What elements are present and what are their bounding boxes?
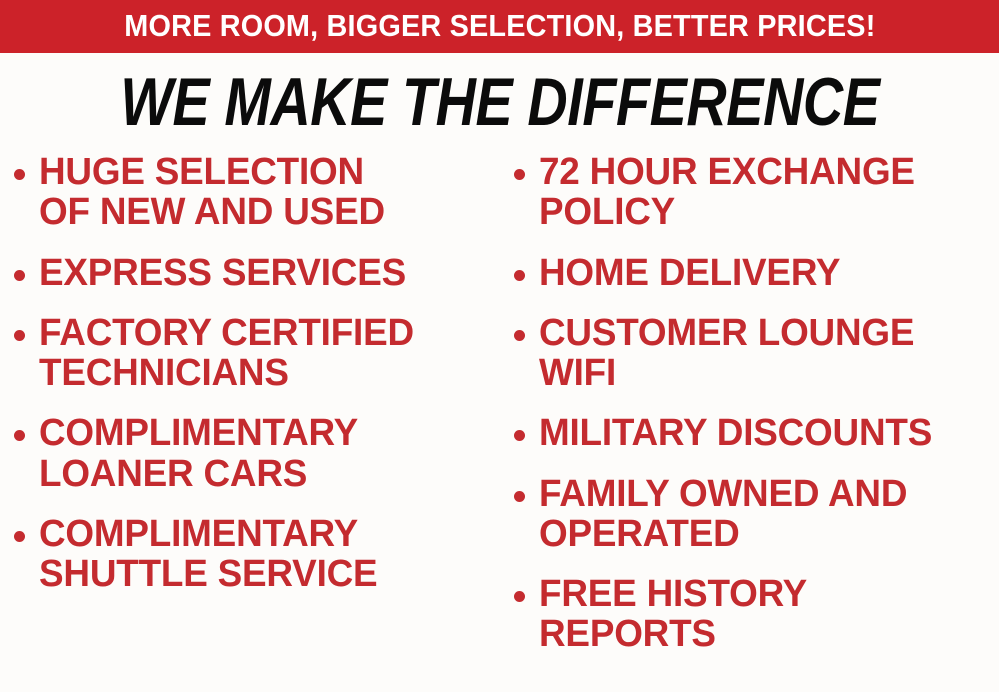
- bullet-dot-icon: [514, 270, 525, 281]
- list-item: FREE HISTORY REPORTS: [514, 574, 999, 655]
- bullet-dot-icon: [514, 591, 525, 602]
- list-item: EXPRESS SERVICES: [14, 253, 499, 293]
- bullet-dot-icon: [14, 169, 25, 180]
- bullet-dot-icon: [14, 270, 25, 281]
- headline: WE MAKE THE DIFFERENCE: [0, 64, 999, 140]
- list-item-label: 72 HOUR EXCHANGE POLICY: [539, 152, 985, 233]
- bullet-dot-icon: [514, 330, 525, 341]
- list-item: CUSTOMER LOUNGE WIFI: [514, 313, 999, 394]
- bullet-dot-icon: [14, 330, 25, 341]
- list-item: HOME DELIVERY: [514, 253, 999, 293]
- bullet-dot-icon: [14, 430, 25, 441]
- list-item-label: HUGE SELECTION OF NEW AND USED: [39, 152, 485, 233]
- bullet-dot-icon: [514, 169, 525, 180]
- list-item-label: MILITARY DISCOUNTS: [539, 413, 985, 453]
- list-item-label: COMPLIMENTARY LOANER CARS: [39, 413, 485, 494]
- list-item: COMPLIMENTARY SHUTTLE SERVICE: [14, 514, 499, 595]
- list-item: FACTORY CERTIFIED TECHNICIANS: [14, 313, 499, 394]
- list-item-label: CUSTOMER LOUNGE WIFI: [539, 313, 985, 394]
- bullet-dot-icon: [514, 430, 525, 441]
- list-item: COMPLIMENTARY LOANER CARS: [14, 413, 499, 494]
- benefits-column-left: HUGE SELECTION OF NEW AND USED EXPRESS S…: [14, 152, 499, 614]
- list-item: MILITARY DISCOUNTS: [514, 413, 999, 453]
- list-item-label: COMPLIMENTARY SHUTTLE SERVICE: [39, 514, 485, 595]
- promo-banner-text: MORE ROOM, BIGGER SELECTION, BETTER PRIC…: [124, 10, 875, 43]
- list-item-label: FREE HISTORY REPORTS: [539, 574, 985, 655]
- benefits-column-right: 72 HOUR EXCHANGE POLICY HOME DELIVERY CU…: [514, 152, 999, 675]
- list-item: HUGE SELECTION OF NEW AND USED: [14, 152, 499, 233]
- headline-text: WE MAKE THE DIFFERENCE: [120, 68, 879, 136]
- bullet-dot-icon: [514, 491, 525, 502]
- list-item: FAMILY OWNED AND OPERATED: [514, 474, 999, 555]
- bullet-dot-icon: [14, 531, 25, 542]
- list-item: 72 HOUR EXCHANGE POLICY: [514, 152, 999, 233]
- poster-root: MORE ROOM, BIGGER SELECTION, BETTER PRIC…: [0, 0, 999, 692]
- benefits-columns: HUGE SELECTION OF NEW AND USED EXPRESS S…: [0, 152, 999, 692]
- list-item-label: HOME DELIVERY: [539, 253, 985, 293]
- promo-banner: MORE ROOM, BIGGER SELECTION, BETTER PRIC…: [0, 0, 999, 53]
- list-item-label: FAMILY OWNED AND OPERATED: [539, 474, 985, 555]
- list-item-label: FACTORY CERTIFIED TECHNICIANS: [39, 313, 485, 394]
- list-item-label: EXPRESS SERVICES: [39, 253, 485, 293]
